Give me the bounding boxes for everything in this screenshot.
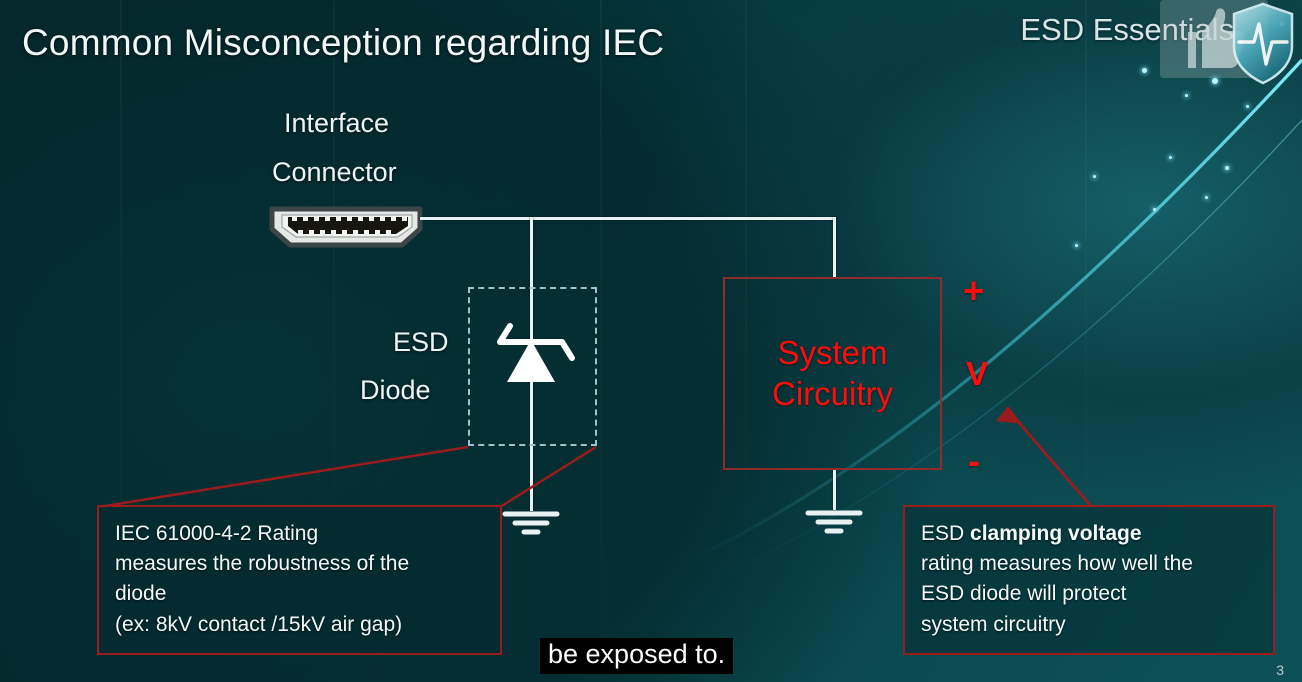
interface-label-line2: Connector: [272, 157, 397, 188]
shield-heartbeat-icon: [1230, 2, 1296, 86]
subtitle-caption: be exposed to.: [540, 638, 733, 674]
callout-left-line3: diode: [115, 579, 486, 609]
slide-canvas: Common Misconception regarding IEC ESD E…: [0, 0, 1302, 682]
wire-branch-to-system: [833, 217, 836, 279]
tvs-zener-diode-icon: [488, 310, 583, 405]
callout-left-line2: measures the robustness of the: [115, 549, 486, 579]
callout-iec-rating: IEC 61000-4-2 Rating measures the robust…: [97, 505, 502, 655]
interface-label-line1: Interface: [284, 108, 389, 139]
callout-left-line4: (ex: 8kV contact /15kV air gap): [115, 610, 486, 640]
callout-right-emphasis: clamping voltage: [970, 522, 1142, 545]
clamping-voltage-v-label: V: [966, 355, 988, 393]
system-circuitry-box: System Circuitry: [723, 277, 942, 470]
callout-right-line3: ESD diode will protect: [921, 579, 1259, 609]
system-circuitry-line2: Circuitry: [772, 374, 893, 414]
hdmi-connector-icon: [266, 203, 426, 249]
system-circuitry-line1: System: [777, 333, 887, 373]
ground-symbol-icon: [804, 508, 864, 536]
callout-right-line4: system circuitry: [921, 610, 1259, 640]
callout-clamping-voltage: ESD clamping voltage rating measures how…: [903, 505, 1275, 655]
page-title: Common Misconception regarding IEC: [22, 22, 664, 64]
polarity-minus-label: -: [968, 440, 980, 482]
callout-right-line2: rating measures how well the: [921, 549, 1259, 579]
callout-right-line1: ESD clamping voltage: [921, 519, 1259, 549]
wire-signal-top: [420, 217, 836, 220]
callout-right-lead: ESD: [921, 522, 970, 545]
wire-system-to-ground: [833, 468, 836, 510]
callout-left-line1: IEC 61000-4-2 Rating: [115, 519, 486, 549]
ground-symbol-icon: [501, 509, 561, 537]
esd-diode-label-line1: ESD: [393, 327, 449, 358]
page-number: 3: [1276, 662, 1284, 678]
esd-diode-label-line2: Diode: [360, 375, 431, 406]
polarity-plus-label: +: [963, 270, 984, 312]
